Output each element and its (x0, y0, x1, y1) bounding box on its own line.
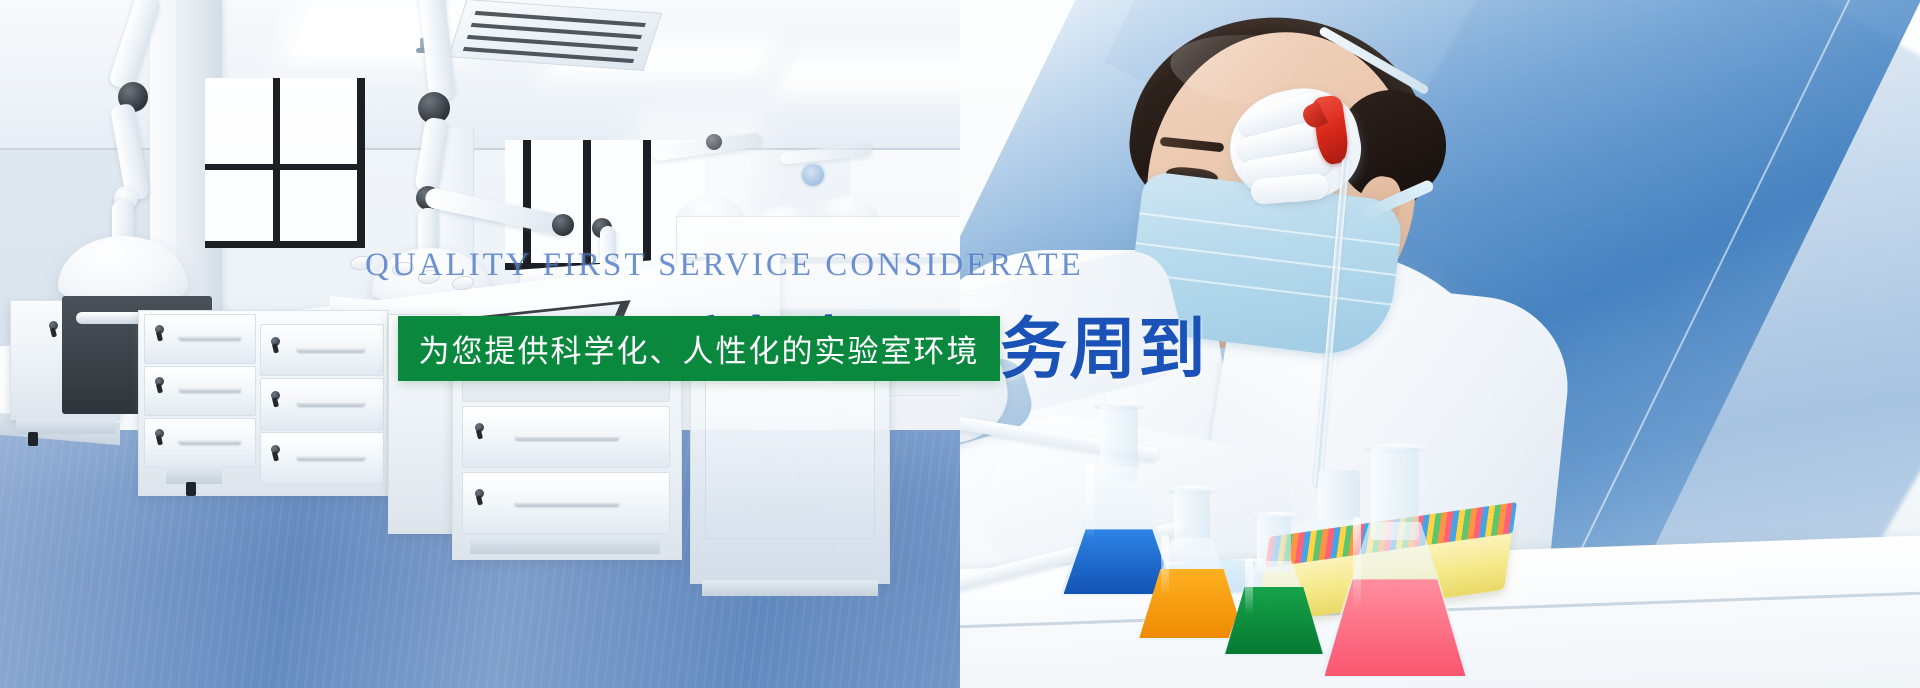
cabinet-drawer (462, 406, 670, 468)
cabinet-drawer (144, 366, 256, 416)
erlenmeyer-flask-pink (1320, 448, 1470, 678)
cabinet-drawer (144, 418, 256, 468)
cabinet-plinth (702, 580, 878, 596)
cabinet-drawer (260, 432, 384, 484)
cabinet-drawer (462, 472, 670, 534)
cabinet-drawer (144, 314, 256, 364)
cabinet-drawer (260, 378, 384, 430)
hero-banner: QUALITY FIRST SERVICE CONSIDERATE 品质为先 服… (0, 0, 1920, 688)
cabinet-drawer (260, 324, 384, 376)
banner-subtitle-text: 为您提供科学化、人性化的实验室环境 (419, 326, 980, 371)
window-left (205, 78, 365, 248)
cabinet-foot (28, 432, 38, 446)
banner-subtitle-bar: 为您提供科学化、人性化的实验室环境 (398, 316, 1000, 381)
erlenmeyer-flask-green (1222, 516, 1326, 656)
shelf-logo-icon (800, 162, 826, 188)
cabinet-plinth (470, 536, 660, 554)
banner-tagline-english: QUALITY FIRST SERVICE CONSIDERATE (365, 247, 1065, 284)
cabinet-foot (186, 482, 196, 496)
